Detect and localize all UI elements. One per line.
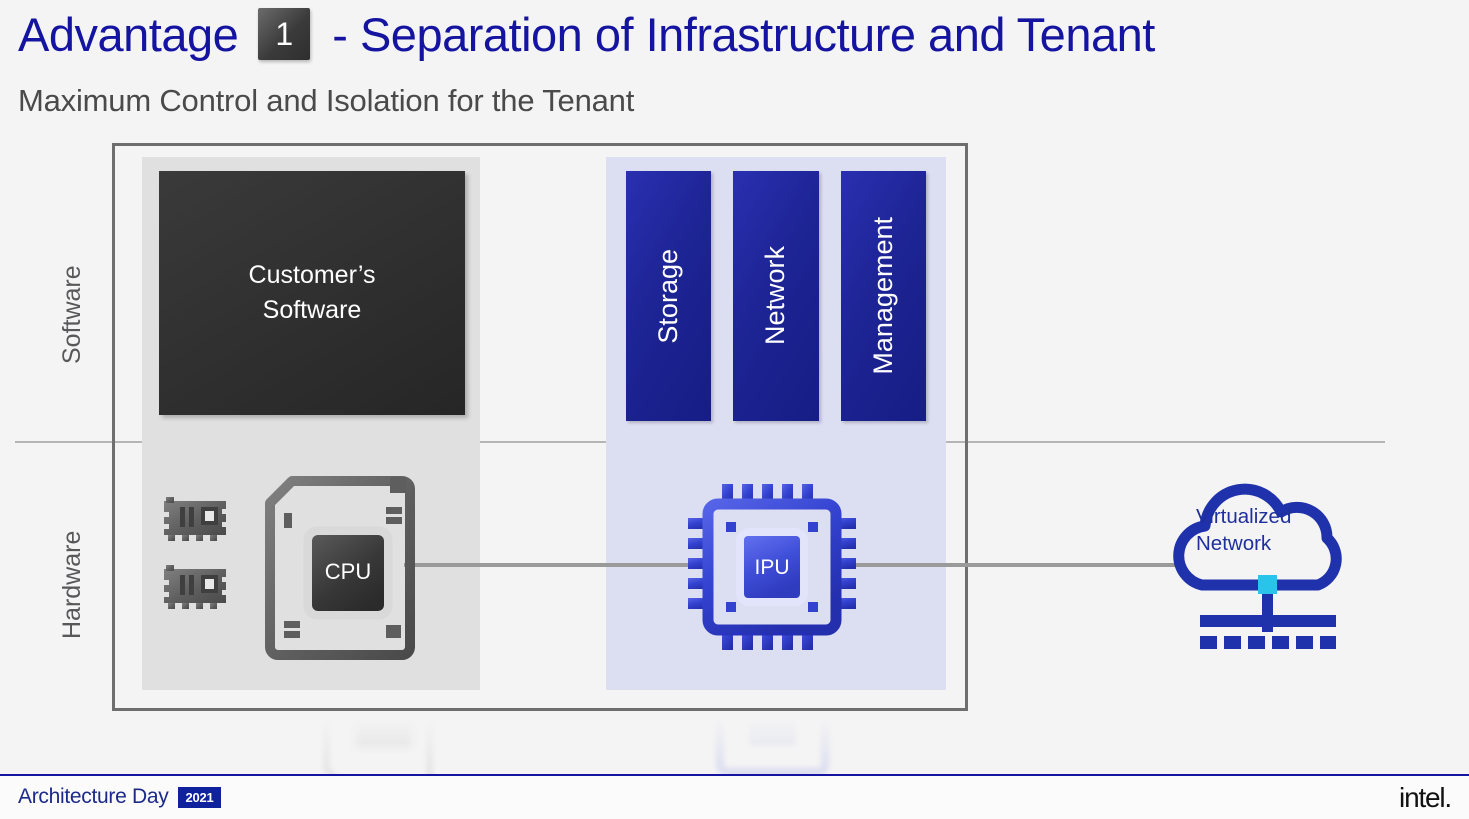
cpu-hardware-group: CPU bbox=[160, 475, 430, 665]
cloud-network-icon: Virtualized Network bbox=[1172, 455, 1362, 655]
infrastructure-service-bars: Storage Network Management bbox=[626, 171, 926, 421]
customer-software-line1: Customer’s bbox=[249, 258, 376, 294]
slide-title: Advantage 1 - Separation of Infrastructu… bbox=[18, 8, 1155, 60]
virtualized-network-group: Virtualized Network bbox=[1172, 455, 1362, 655]
advantage-number-badge: 1 bbox=[258, 8, 310, 60]
service-bar-label: Management bbox=[868, 217, 899, 375]
ipu-hardware-group: IPU bbox=[686, 482, 858, 652]
connector-ipu-to-network bbox=[846, 563, 1181, 567]
title-prefix: Advantage bbox=[18, 11, 238, 58]
footer-year-badge: 2021 bbox=[178, 787, 220, 808]
connector-cpu-to-ipu bbox=[404, 563, 704, 567]
title-suffix: - Separation of Infrastructure and Tenan… bbox=[332, 11, 1155, 58]
slide-subtitle: Maximum Control and Isolation for the Te… bbox=[18, 83, 634, 119]
service-bar-label: Storage bbox=[653, 249, 684, 344]
memory-module-icon-2 bbox=[164, 565, 226, 609]
service-bar-management: Management bbox=[841, 171, 926, 421]
ipu-label: IPU bbox=[754, 556, 789, 579]
cloud-reflection bbox=[1180, 700, 1355, 778]
cpu-label: CPU bbox=[325, 559, 371, 584]
slide-footer: Architecture Day 2021 intel. bbox=[0, 774, 1469, 819]
intel-logo: intel. bbox=[1399, 782, 1451, 814]
service-bar-label: Network bbox=[760, 246, 791, 345]
axis-label-hardware: Hardware bbox=[58, 470, 87, 700]
customer-software-box: Customer’s Software bbox=[159, 171, 465, 415]
footer-event-name: Architecture Day bbox=[18, 785, 168, 809]
customer-software-line2: Software bbox=[249, 293, 376, 329]
footer-brand: Architecture Day 2021 bbox=[18, 785, 221, 809]
memory-module-icon bbox=[164, 497, 226, 541]
network-node-dashes bbox=[1200, 636, 1336, 649]
ipu-chip-icon: IPU bbox=[686, 482, 858, 652]
axis-label-software: Software bbox=[58, 195, 87, 435]
cloud-label-line2: Network bbox=[1196, 532, 1272, 555]
cpu-chip-icon: CPU bbox=[160, 475, 430, 665]
network-connector-node bbox=[1258, 575, 1277, 594]
advantage-number: 1 bbox=[275, 18, 293, 50]
cloud-label-line1: Virtualized bbox=[1196, 505, 1291, 528]
service-bar-network: Network bbox=[733, 171, 818, 421]
service-bar-storage: Storage bbox=[626, 171, 711, 421]
